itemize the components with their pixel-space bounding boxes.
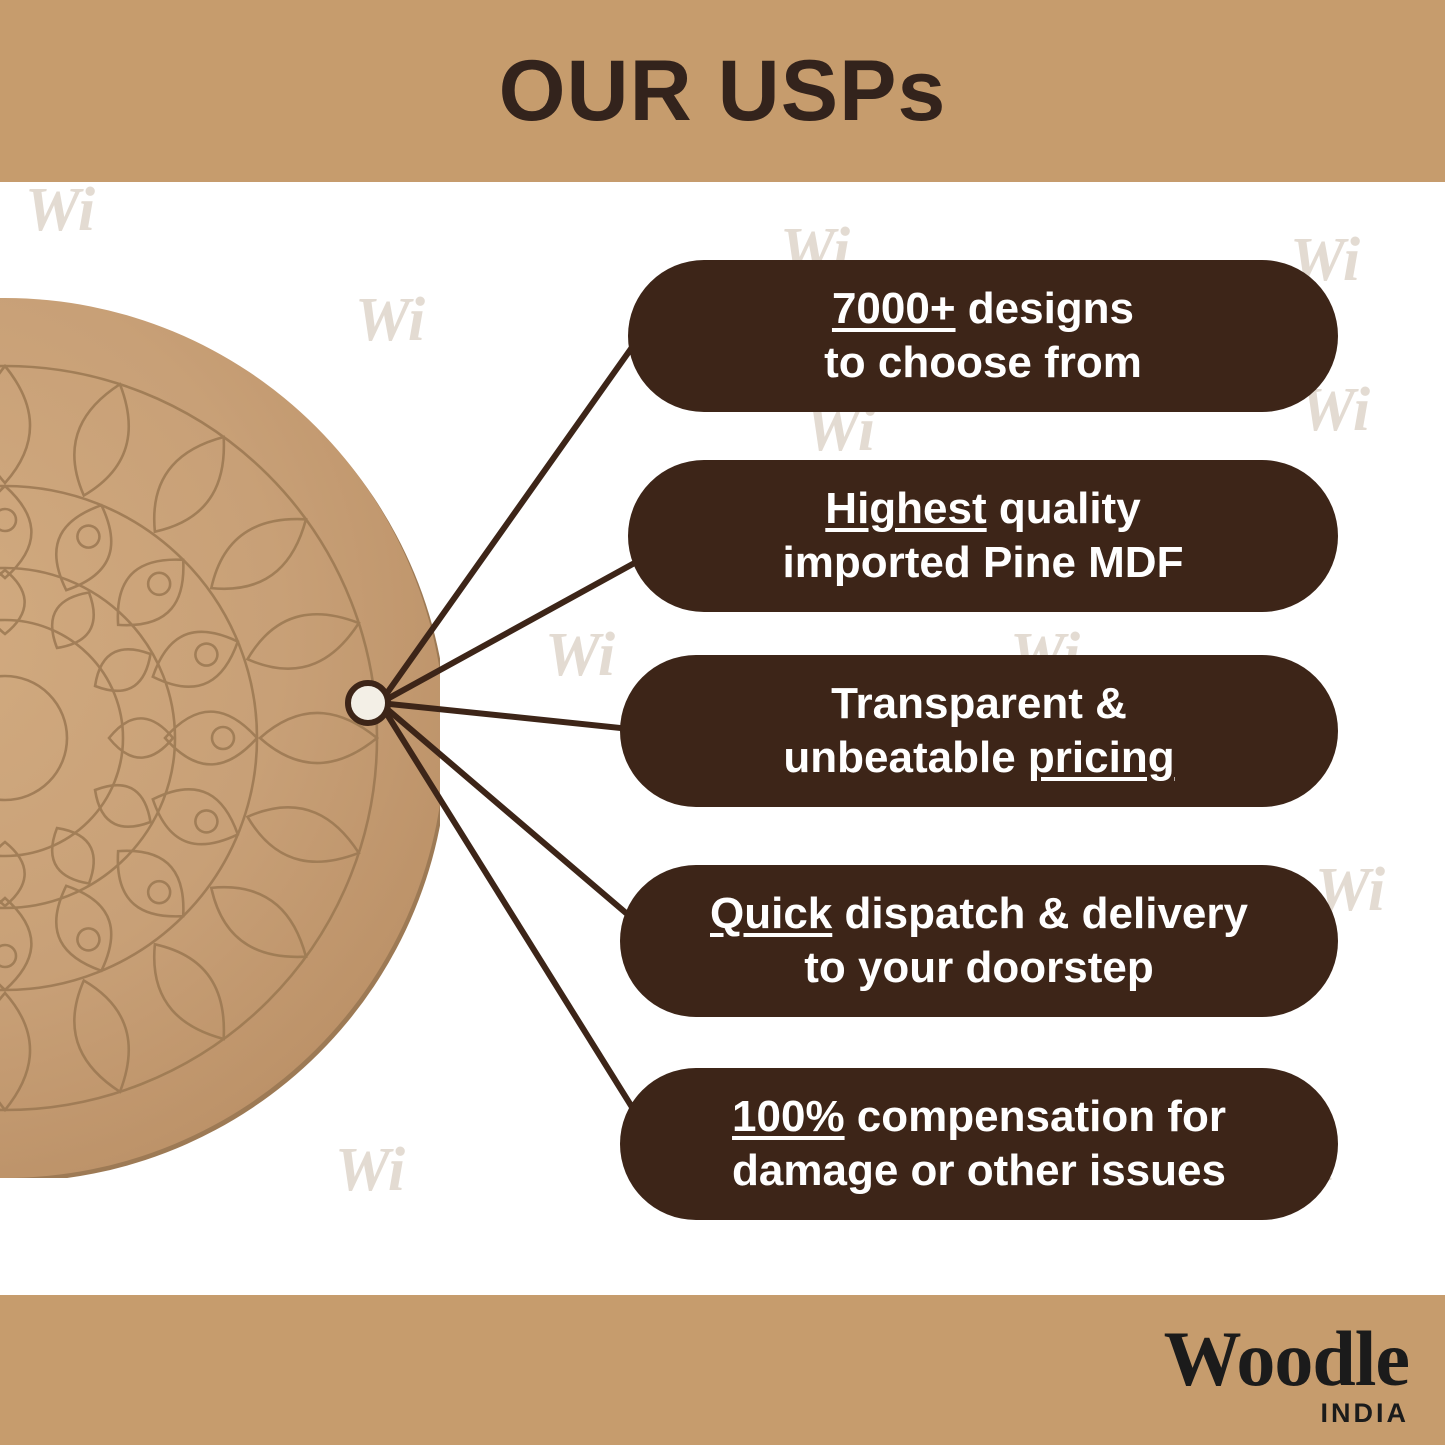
usp-line2-quality: imported Pine MDF	[783, 538, 1184, 587]
usp-line2-pre-pricing: unbeatable	[783, 733, 1028, 782]
usp-line1-rest-quality: quality	[987, 484, 1141, 533]
usp-line2-dispatch: to your doorstep	[804, 943, 1154, 992]
usp-emphasis-pricing: pricing	[1028, 733, 1175, 782]
usp-emphasis-designs: 7000+	[832, 284, 956, 333]
usp-line1-rest-compensation: compensation for	[845, 1092, 1226, 1141]
usp-line2-designs: to choose from	[824, 338, 1142, 387]
product-image-mandala-mdf-base	[0, 298, 440, 1178]
usp-pill-compensation[interactable]: 100% compensation for damage or other is…	[620, 1068, 1338, 1220]
usp-pill-pricing[interactable]: Transparent & unbeatable pricing	[620, 655, 1338, 807]
page-title: OUR USPs	[0, 0, 1445, 182]
brand-logo: Woodle INDIA	[1164, 1320, 1409, 1427]
usp-emphasis-compensation: 100%	[732, 1092, 845, 1141]
usp-line1-rest-dispatch: dispatch & delivery	[832, 889, 1248, 938]
usp-emphasis-quality: Highest	[825, 484, 986, 533]
usp-pill-dispatch[interactable]: Quick dispatch & delivery to your doorst…	[620, 865, 1338, 1017]
brand-name: Woodle	[1164, 1320, 1409, 1398]
hub-node	[345, 680, 391, 726]
watermark: Wi	[25, 175, 95, 246]
brand-subtitle: INDIA	[1164, 1400, 1409, 1427]
usp-line2-compensation: damage or other issues	[732, 1146, 1226, 1195]
usp-line1-rest-designs: designs	[956, 284, 1135, 333]
usp-pill-designs[interactable]: 7000+ designs to choose from	[628, 260, 1338, 412]
usp-line1-pricing: Transparent &	[831, 679, 1127, 728]
usp-infographic: OUR USPs Wi Wi Wi Wi Wi Wi Wi Wi Wi Wi W…	[0, 0, 1445, 1445]
usp-pill-quality[interactable]: Highest quality imported Pine MDF	[628, 460, 1338, 612]
watermark: Wi	[545, 620, 615, 691]
usp-emphasis-dispatch: Quick	[710, 889, 832, 938]
